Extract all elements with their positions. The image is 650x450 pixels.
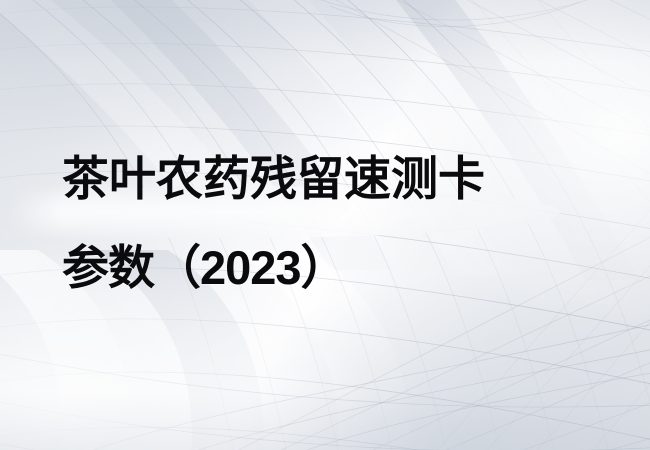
banner-title-block: 茶叶农药残留速测卡 参数（2023） [62, 134, 582, 312]
banner-title-line-1: 茶叶农药残留速测卡 [62, 134, 582, 223]
product-title-banner: 茶叶农药残留速测卡 参数（2023） [0, 0, 650, 450]
banner-title-line-2: 参数（2023） [62, 223, 582, 312]
